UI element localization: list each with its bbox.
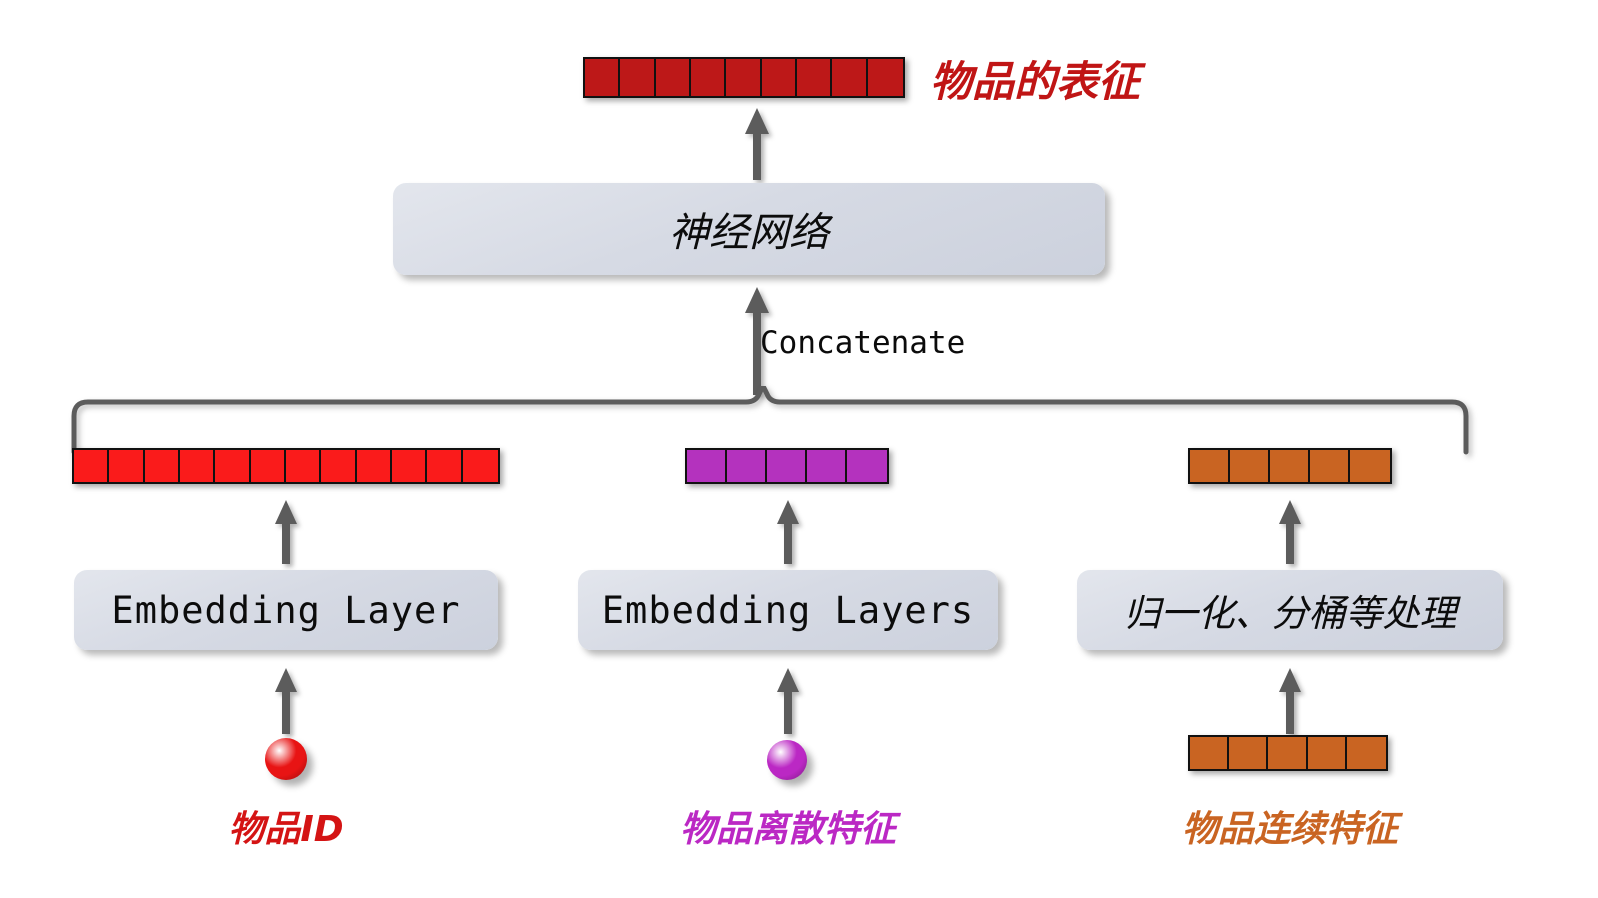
concatenate-label: Concatenate: [760, 325, 965, 361]
item-id-cell: [74, 450, 109, 482]
top-representation-cell: [620, 59, 655, 96]
embedding-layers-box-discrete[interactable]: Embedding Layers: [578, 570, 998, 650]
item-id-cell: [145, 450, 180, 482]
normalize-bucketize-box[interactable]: 归一化、分桶等处理: [1077, 570, 1503, 650]
top-representation-caption: 物品的表征: [930, 48, 1140, 109]
arrow-embedding-to-vector-0: [264, 496, 308, 564]
item-continuous-features-cell: [1190, 450, 1230, 482]
item-continuous-features-raw-cell: [1190, 737, 1229, 769]
item-continuous-features-cell: [1230, 450, 1270, 482]
item-id-cell: [427, 450, 462, 482]
top-representation-cell: [585, 59, 620, 96]
item-discrete-features-cell: [687, 450, 727, 482]
continuous-feature-caption: 物品连续特征: [1182, 800, 1398, 852]
neural-network-label: 神经网络: [669, 200, 829, 258]
arrow-process-to-vector-2: [1268, 496, 1312, 564]
item-id-embedding-vector: [72, 448, 500, 484]
item-continuous-features-cell: [1310, 450, 1350, 482]
arrow-embedding-to-vector-1: [766, 496, 810, 564]
item-discrete-features-cell: [847, 450, 887, 482]
embedding-layer-label-1: Embedding Layers: [602, 589, 974, 632]
item-id-cell: [392, 450, 427, 482]
arrow-discrete-to-embedding: [766, 664, 810, 734]
item-id-caption: 物品ID: [228, 800, 343, 852]
item-continuous-features-raw-cell: [1268, 737, 1307, 769]
top-representation-cell: [656, 59, 691, 96]
arrow-itemid-to-embedding: [264, 664, 308, 734]
item-id-cell: [251, 450, 286, 482]
top-representation-cell: [797, 59, 832, 96]
item-continuous-features-raw-cell: [1229, 737, 1268, 769]
item-id-cell: [357, 450, 392, 482]
embedding-layer-label-0: Embedding Layer: [111, 589, 460, 632]
top-representation-cell: [726, 59, 761, 96]
discrete-feature-node: [767, 740, 807, 780]
continuous-feature-processed-vector: [1188, 448, 1392, 484]
top-representation-vector: [583, 57, 905, 98]
diagram-canvas: 物品的表征 神经网络 Concatenate Embedding Layer: [0, 0, 1598, 898]
item-discrete-features-cell: [807, 450, 847, 482]
arrow-continuous-to-process: [1268, 664, 1312, 734]
concat-bracket: [60, 386, 1480, 456]
item-id-cell: [109, 450, 144, 482]
item-id-cell: [463, 450, 498, 482]
item-id-cell: [286, 450, 321, 482]
item-continuous-features-cell: [1350, 450, 1390, 482]
top-representation-cell: [762, 59, 797, 96]
item-id-cell: [321, 450, 356, 482]
top-representation-cell: [691, 59, 726, 96]
arrow-nn-to-representation: [733, 104, 781, 180]
item-discrete-features-cell: [727, 450, 767, 482]
item-id-cell: [215, 450, 250, 482]
item-id-cell: [180, 450, 215, 482]
item-id-node: [265, 738, 307, 780]
item-continuous-features-raw-cell: [1308, 737, 1347, 769]
discrete-feature-caption: 物品离散特征: [680, 800, 896, 852]
item-continuous-features-cell: [1270, 450, 1310, 482]
item-discrete-features-cell: [767, 450, 807, 482]
neural-network-box[interactable]: 神经网络: [393, 183, 1105, 275]
item-continuous-features-raw-cell: [1347, 737, 1386, 769]
top-representation-cell: [832, 59, 867, 96]
normalize-bucketize-label: 归一化、分桶等处理: [1124, 583, 1457, 637]
continuous-feature-raw-vector: [1188, 735, 1388, 771]
embedding-layer-box-item-id[interactable]: Embedding Layer: [74, 570, 498, 650]
top-representation-cell: [868, 59, 903, 96]
discrete-feature-embedding-vector: [685, 448, 889, 484]
